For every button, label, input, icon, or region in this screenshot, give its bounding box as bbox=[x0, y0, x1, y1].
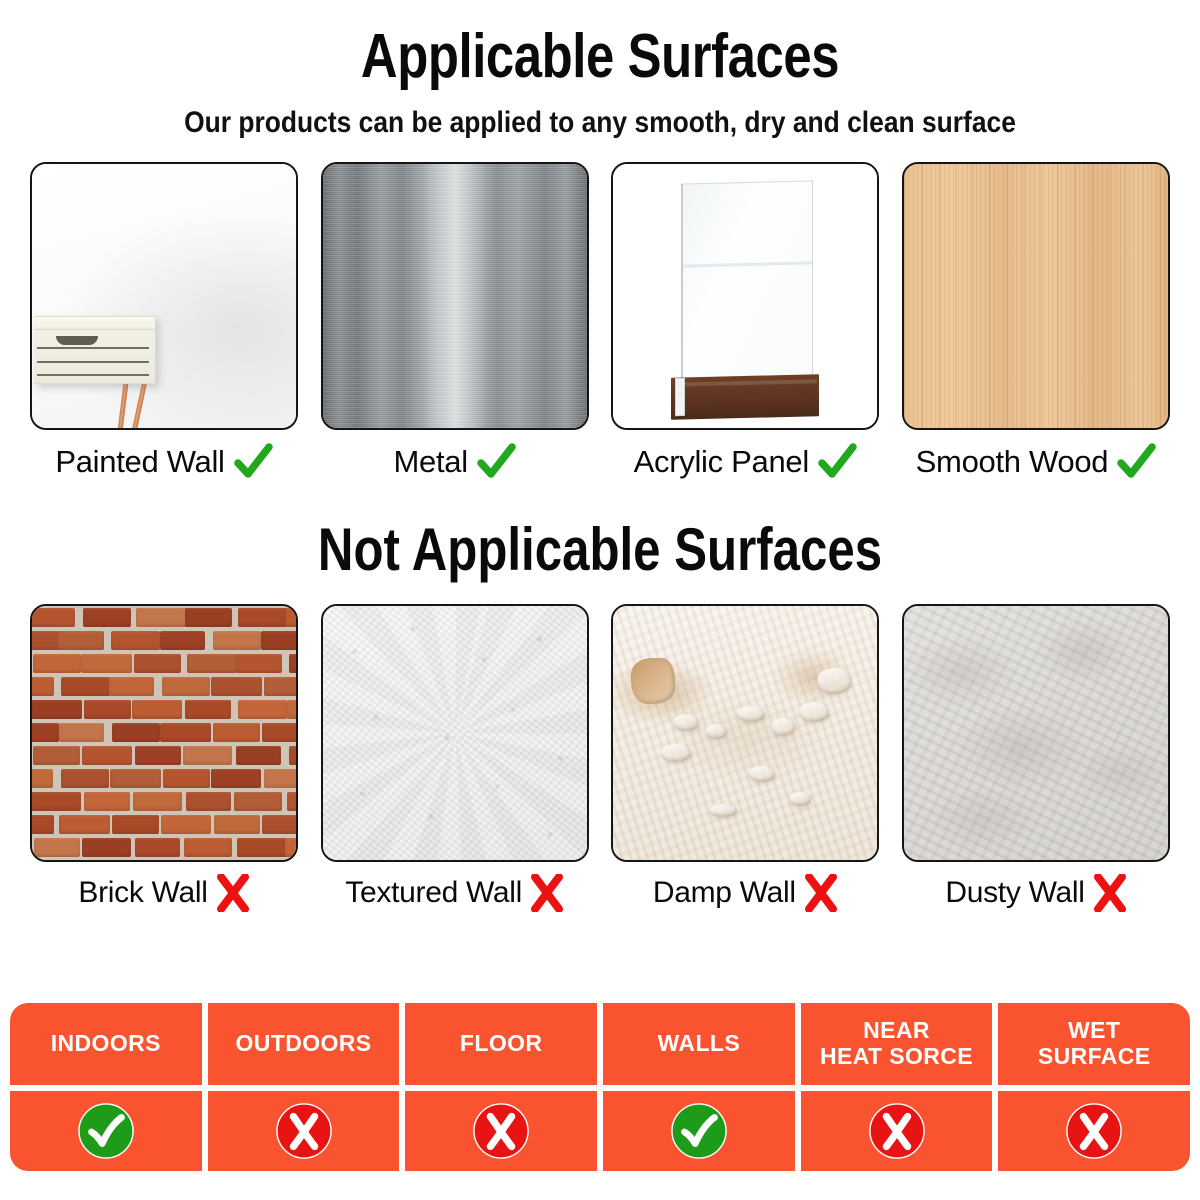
console-slot bbox=[37, 361, 149, 363]
surface-label: Metal bbox=[394, 444, 468, 480]
console-handle-icon bbox=[56, 336, 98, 345]
brick bbox=[33, 746, 80, 765]
brick bbox=[31, 792, 81, 811]
brick bbox=[33, 654, 81, 673]
brick bbox=[111, 631, 160, 650]
dusty-concrete-texture bbox=[904, 606, 1168, 860]
dusty-wall-image bbox=[902, 604, 1170, 862]
brick bbox=[184, 838, 232, 857]
surface-card-dusty-wall: Dusty Wall bbox=[902, 604, 1170, 912]
brick bbox=[238, 700, 287, 719]
usage-header-line1: NEAR bbox=[863, 1017, 930, 1043]
brick-texture bbox=[32, 606, 296, 860]
circle-cross-badge-icon bbox=[275, 1102, 333, 1160]
brick bbox=[261, 631, 298, 650]
paint-blister bbox=[673, 714, 699, 731]
brick bbox=[211, 769, 261, 788]
brick bbox=[186, 792, 231, 811]
acrylic-sheet bbox=[681, 180, 813, 395]
brick bbox=[135, 838, 180, 857]
check-icon bbox=[476, 442, 516, 482]
brick bbox=[30, 746, 31, 765]
brick bbox=[132, 700, 182, 719]
cross-icon bbox=[530, 874, 564, 912]
brick bbox=[61, 769, 109, 788]
paint-blister bbox=[709, 804, 737, 817]
usage-header-line1: WET bbox=[1068, 1017, 1120, 1043]
acrylic-panel-image bbox=[611, 162, 879, 430]
brick-row bbox=[32, 744, 296, 767]
brick bbox=[213, 631, 261, 650]
circle-check-badge-icon bbox=[77, 1102, 135, 1160]
usage-header-floor: FLOOR bbox=[405, 1003, 597, 1085]
usage-header-line1: FLOOR bbox=[460, 1030, 543, 1056]
paint-blister bbox=[737, 706, 765, 722]
metal-image bbox=[321, 162, 589, 430]
brick bbox=[237, 838, 288, 857]
usage-header-outdoors: OUTDOORS bbox=[208, 1003, 400, 1085]
surface-caption: Textured Wall bbox=[321, 874, 589, 912]
brick bbox=[59, 815, 110, 834]
painted-wall-texture bbox=[32, 164, 296, 428]
surface-label: Painted Wall bbox=[55, 444, 224, 480]
surface-card-smooth-wood: Smooth Wood bbox=[902, 162, 1170, 482]
brick bbox=[287, 700, 299, 719]
paint-blister bbox=[705, 724, 727, 739]
brick bbox=[30, 769, 53, 788]
brick-row bbox=[32, 652, 296, 675]
brick bbox=[133, 792, 182, 811]
brick bbox=[30, 815, 54, 834]
brick bbox=[265, 861, 299, 863]
brick bbox=[264, 769, 298, 788]
usage-header-line1: OUTDOORS bbox=[235, 1030, 371, 1056]
brick bbox=[183, 746, 232, 765]
damp-wall-image bbox=[611, 604, 879, 862]
cross-icon bbox=[804, 874, 838, 912]
brick bbox=[262, 815, 298, 834]
brick bbox=[213, 723, 260, 742]
textured-wall-image bbox=[321, 604, 589, 862]
check-icon bbox=[233, 442, 273, 482]
usage-status-outdoors bbox=[208, 1091, 400, 1171]
wall-console-cabinet bbox=[34, 316, 156, 384]
usage-header-walls: WALLS bbox=[603, 1003, 795, 1085]
usage-header-line2: SURFACE bbox=[1038, 1043, 1151, 1069]
surface-card-damp-wall: Damp Wall bbox=[611, 604, 879, 912]
brick bbox=[136, 608, 187, 627]
brick bbox=[30, 608, 75, 627]
circle-cross-badge-icon bbox=[868, 1102, 926, 1160]
applicable-section-header: Applicable Surfaces Our products can be … bbox=[0, 0, 1200, 140]
brick bbox=[163, 861, 209, 863]
brick bbox=[30, 838, 31, 857]
metal-sheen bbox=[323, 164, 587, 428]
usage-header-near-heat-sorce: NEAR HEAT SORCE bbox=[801, 1003, 993, 1085]
usage-header-indoors: INDOORS bbox=[10, 1003, 202, 1085]
cross-icon bbox=[1093, 874, 1127, 912]
brick bbox=[112, 815, 159, 834]
usage-header-line2: HEAT SORCE bbox=[820, 1043, 973, 1069]
surface-caption: Acrylic Panel bbox=[611, 442, 879, 482]
usage-header-line1: INDOORS bbox=[51, 1030, 161, 1056]
console-top bbox=[34, 317, 155, 330]
brick-row bbox=[32, 629, 296, 652]
brick bbox=[109, 677, 154, 696]
not-applicable-section-header: Not Applicable Surfaces bbox=[0, 520, 1200, 580]
brick bbox=[214, 815, 260, 834]
brick bbox=[238, 608, 288, 627]
brick-row bbox=[32, 813, 296, 836]
brick-row bbox=[32, 606, 296, 629]
brick-wall-image bbox=[30, 604, 298, 862]
painted-wall-image bbox=[30, 162, 298, 430]
usage-table-status-row bbox=[10, 1091, 1190, 1171]
brick bbox=[84, 792, 130, 811]
brick-row bbox=[32, 767, 296, 790]
wood-grain-texture bbox=[904, 164, 1168, 428]
circle-check-badge-icon bbox=[670, 1102, 728, 1160]
brick bbox=[285, 838, 298, 857]
surface-caption: Painted Wall bbox=[30, 442, 298, 482]
brick bbox=[110, 769, 161, 788]
acrylic-wood-base bbox=[671, 374, 819, 420]
paint-blister bbox=[771, 718, 795, 736]
check-icon bbox=[1116, 442, 1156, 482]
usage-status-indoors bbox=[10, 1091, 202, 1171]
brick bbox=[30, 861, 60, 863]
brick bbox=[236, 654, 282, 673]
brick bbox=[160, 631, 205, 650]
brick bbox=[211, 677, 262, 696]
surface-label: Dusty Wall bbox=[945, 876, 1084, 910]
section-title-not-applicable: Not Applicable Surfaces bbox=[108, 520, 1092, 580]
brick bbox=[82, 838, 131, 857]
brick bbox=[234, 792, 282, 811]
surface-label: Acrylic Panel bbox=[634, 444, 809, 480]
brick bbox=[31, 700, 82, 719]
brick bbox=[236, 746, 281, 765]
brick bbox=[287, 792, 298, 811]
brick bbox=[30, 723, 59, 742]
page-subtitle: Our products can be applied to any smoot… bbox=[72, 106, 1128, 140]
paint-blister bbox=[817, 668, 851, 694]
brick bbox=[212, 861, 261, 863]
brick bbox=[61, 677, 110, 696]
surface-caption: Damp Wall bbox=[611, 874, 879, 912]
surface-card-textured-wall: Textured Wall bbox=[321, 604, 589, 912]
brick bbox=[110, 861, 160, 863]
brick bbox=[57, 861, 104, 863]
brick bbox=[185, 700, 231, 719]
brick bbox=[59, 723, 104, 742]
brick bbox=[185, 608, 232, 627]
brick-row bbox=[32, 675, 296, 698]
brick bbox=[161, 815, 211, 834]
damp-texture bbox=[613, 606, 877, 860]
surface-label: Brick Wall bbox=[78, 876, 207, 910]
surface-label: Textured Wall bbox=[345, 876, 522, 910]
brick bbox=[58, 631, 104, 650]
console-slot bbox=[37, 347, 149, 349]
surface-card-metal: Metal bbox=[321, 162, 589, 482]
surface-card-brick-wall: Brick Wall bbox=[30, 604, 298, 912]
stucco-texture bbox=[323, 606, 587, 860]
brick bbox=[264, 677, 299, 696]
surface-caption: Smooth Wood bbox=[902, 442, 1170, 482]
usage-status-near-heat-sorce bbox=[801, 1091, 993, 1171]
page-title: Applicable Surfaces bbox=[108, 26, 1092, 88]
brick bbox=[112, 723, 160, 742]
brick bbox=[84, 700, 131, 719]
brick bbox=[289, 654, 299, 673]
circle-cross-badge-icon bbox=[472, 1102, 530, 1160]
surface-caption: Brick Wall bbox=[30, 874, 298, 912]
peeling-paint-patch bbox=[631, 658, 675, 704]
smooth-wood-image bbox=[902, 162, 1170, 430]
brick bbox=[162, 677, 210, 696]
not-applicable-surfaces-grid: Brick Wall Textured Wall bbox=[0, 604, 1200, 912]
brick bbox=[83, 608, 131, 627]
applicable-surfaces-grid: Painted Wall Metal Acrylic Panel bbox=[0, 162, 1200, 482]
usage-status-wet-surface bbox=[998, 1091, 1190, 1171]
cross-icon bbox=[216, 874, 250, 912]
brick bbox=[163, 769, 210, 788]
brick bbox=[135, 746, 181, 765]
brick bbox=[262, 723, 299, 742]
console-slot bbox=[37, 374, 149, 376]
circle-cross-badge-icon bbox=[1065, 1102, 1123, 1160]
brick-row bbox=[32, 721, 296, 744]
surface-label: Smooth Wood bbox=[916, 444, 1109, 480]
brick bbox=[30, 677, 54, 696]
usage-status-walls bbox=[603, 1091, 795, 1171]
paint-blister bbox=[789, 792, 811, 806]
brick bbox=[134, 654, 181, 673]
surface-caption: Dusty Wall bbox=[902, 874, 1170, 912]
usage-status-floor bbox=[405, 1091, 597, 1171]
brick bbox=[34, 838, 80, 857]
brick-row bbox=[32, 698, 296, 721]
usage-table-header-row: INDOORS OUTDOORS FLOOR WALLS NEAR HEAT S… bbox=[10, 1003, 1190, 1085]
paint-blister bbox=[661, 744, 691, 762]
usage-table: INDOORS OUTDOORS FLOOR WALLS NEAR HEAT S… bbox=[10, 1003, 1190, 1171]
surface-card-acrylic-panel: Acrylic Panel bbox=[611, 162, 879, 482]
surface-label: Damp Wall bbox=[653, 876, 796, 910]
acrylic-base-slot bbox=[675, 378, 685, 416]
paint-blister bbox=[749, 766, 775, 782]
usage-header-line1: WALLS bbox=[658, 1030, 741, 1056]
brick bbox=[160, 723, 211, 742]
paint-blister bbox=[799, 702, 829, 722]
brick bbox=[289, 746, 298, 765]
brick-row bbox=[32, 836, 296, 859]
brick-row bbox=[32, 790, 296, 813]
surface-caption: Metal bbox=[321, 442, 589, 482]
brick bbox=[286, 608, 298, 627]
brick bbox=[187, 654, 237, 673]
check-icon bbox=[817, 442, 857, 482]
brick bbox=[82, 746, 132, 765]
surface-card-painted-wall: Painted Wall bbox=[30, 162, 298, 482]
brick-row bbox=[32, 859, 296, 862]
usage-header-wet-surface: WET SURFACE bbox=[998, 1003, 1190, 1085]
brick bbox=[30, 631, 60, 650]
brick bbox=[81, 654, 132, 673]
